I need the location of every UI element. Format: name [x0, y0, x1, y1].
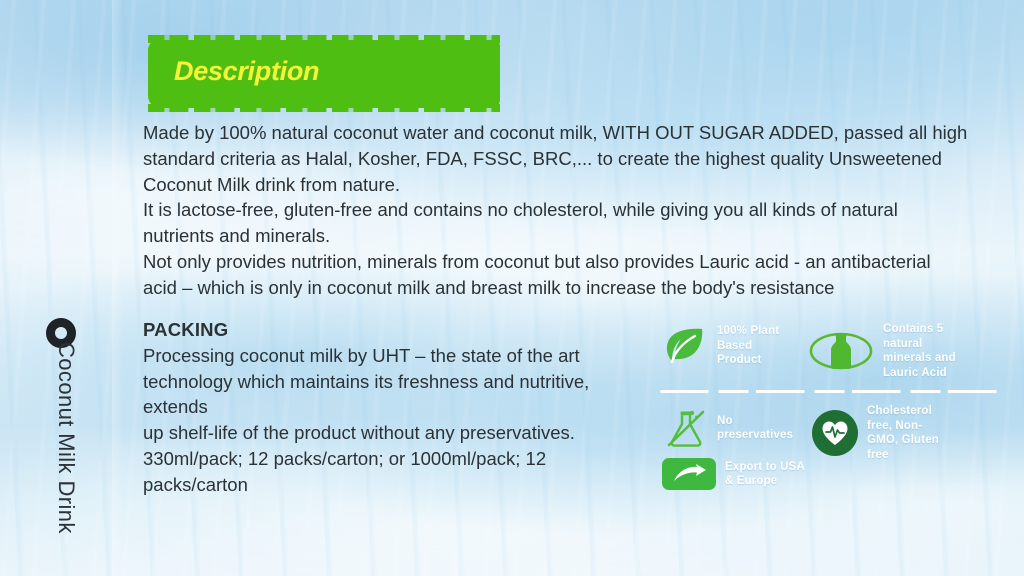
packing-line-2: technology which maintains its freshness… — [143, 369, 643, 421]
badge-minerals-lauric-acid: Contains 5 natural minerals and Lauric A… — [808, 322, 1013, 380]
packing-heading: PACKING — [143, 317, 643, 343]
description-paragraph-3: Not only provides nutrition, minerals fr… — [143, 249, 969, 301]
badge-no-preservatives: No preservatives — [664, 406, 814, 450]
packing-section: PACKING Processing coconut milk by UHT –… — [143, 317, 643, 498]
slide-canvas: Coconut Milk Drink Description Made by 1… — [0, 0, 1024, 576]
badge-plant-based: 100% Plant Based Product — [662, 324, 812, 368]
side-tab-label: Coconut Milk Drink — [53, 342, 79, 552]
description-body: Made by 100% natural coconut water and c… — [143, 120, 969, 301]
heart-pulse-icon — [812, 410, 858, 456]
dashed-white-divider — [660, 390, 1004, 393]
page-title: Description — [174, 56, 319, 87]
badge-minerals-lauric-acid-label: Contains 5 natural minerals and Lauric A… — [883, 322, 956, 380]
badge-export-usa-europe: Export to USA & Europe — [662, 458, 862, 490]
packing-line-3: up shelf-life of the product without any… — [143, 420, 643, 446]
description-paragraph-1: Made by 100% natural coconut water and c… — [143, 120, 969, 197]
feature-badge-group: 100% Plant Based Product Contains 5 natu… — [660, 322, 1008, 504]
heart-pulse-glyph — [821, 420, 849, 446]
badge-no-preservatives-label: No preservatives — [717, 414, 793, 443]
badge-cholesterol-free-label: Cholesterol free, Non- GMO, Gluten free — [867, 404, 939, 462]
description-paragraph-2: It is lactose-free, gluten-free and cont… — [143, 197, 969, 249]
bottle-in-oval-icon — [808, 328, 874, 374]
banner-brush-edge-top — [148, 35, 500, 43]
banner-brush-edge-bottom — [148, 104, 500, 112]
badge-export-usa-europe-label: Export to USA & Europe — [725, 460, 805, 489]
badge-cholesterol-free: Cholesterol free, Non- GMO, Gluten free — [812, 404, 1012, 462]
section-heading-banner: Description — [148, 40, 500, 108]
leaf-icon — [662, 325, 708, 367]
badge-plant-based-label: 100% Plant Based Product — [717, 324, 779, 368]
export-arrow-icon — [662, 458, 716, 490]
side-tab: Coconut Milk Drink — [30, 308, 96, 558]
no-flask-icon — [664, 406, 708, 450]
packing-line-1: Processing coconut milk by UHT – the sta… — [143, 343, 643, 369]
curved-arrow-glyph — [671, 463, 707, 485]
packing-line-4: 330ml/pack; 12 packs/carton; or 1000ml/p… — [143, 446, 643, 498]
